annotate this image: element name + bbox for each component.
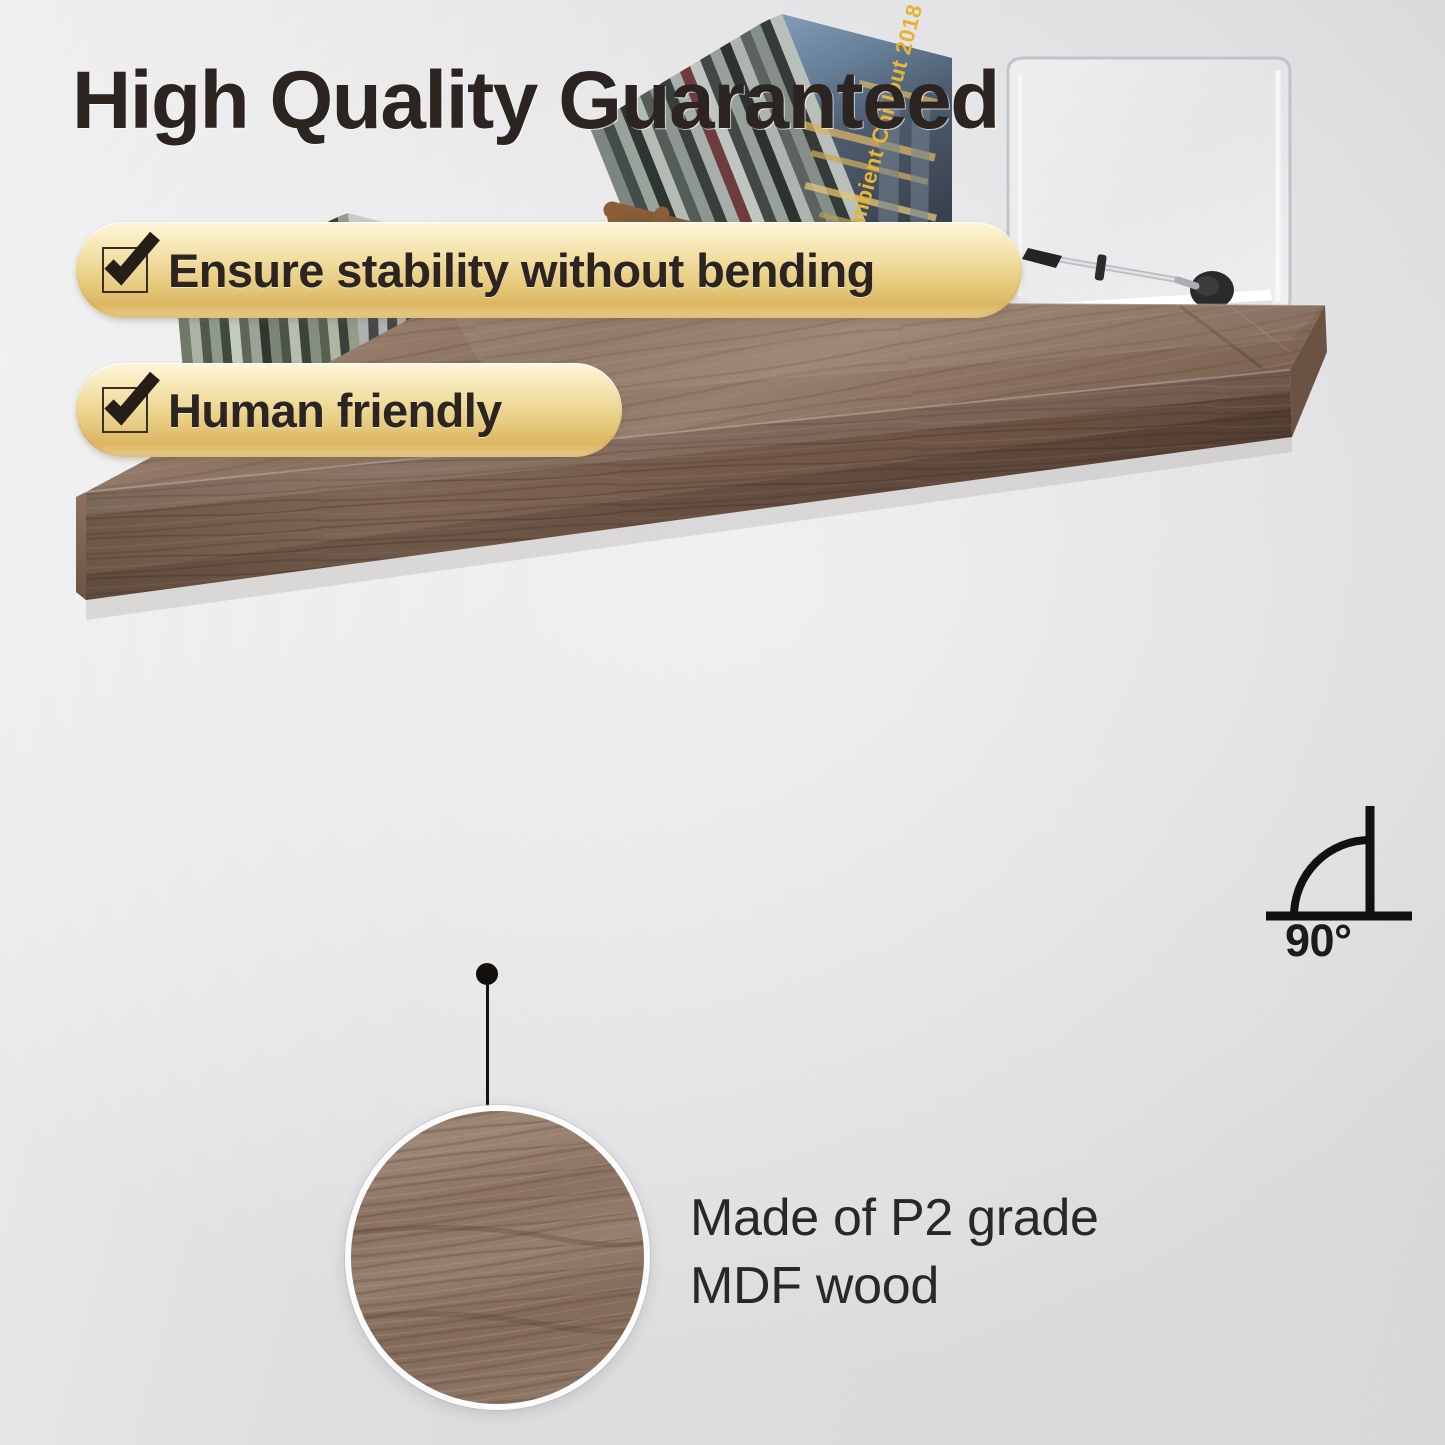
material-callout-line1: Made of P2 grade	[690, 1185, 1099, 1253]
infographic-canvas: EVERMOTION RECORDS EVERMOTION EVERMOTION…	[0, 0, 1445, 1445]
material-callout-line2: MDF wood	[690, 1253, 1099, 1321]
feature-pill-stability[interactable]: Ensure stability without bending	[76, 222, 1022, 318]
feature-pill-label: Human friendly	[168, 383, 502, 438]
feature-pill-label: Ensure stability without bending	[168, 243, 875, 298]
material-callout-text: Made of P2 grade MDF wood	[690, 1185, 1099, 1320]
feature-pill-human-friendly[interactable]: Human friendly	[76, 363, 622, 457]
angle-value-label: 90°	[1285, 915, 1352, 967]
checkbox-checked-icon	[102, 387, 148, 433]
checkbox-checked-icon	[102, 247, 148, 293]
page-title: High Quality Guaranteed	[72, 54, 999, 148]
wood-grain-closeup	[345, 1105, 650, 1410]
callout-leader-line	[486, 982, 489, 1110]
